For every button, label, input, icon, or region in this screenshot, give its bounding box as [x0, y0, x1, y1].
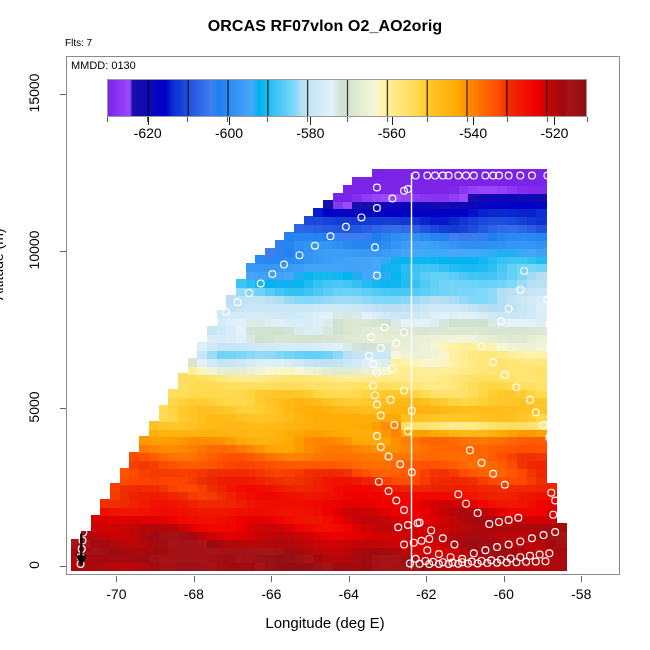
- colorbar-minor-tick: [507, 117, 508, 122]
- colorbar-tick-label: -580: [296, 125, 324, 141]
- colorbar-tick-label: -520: [540, 125, 568, 141]
- colorbar-minor-tick: [467, 117, 468, 122]
- colorbar-minor-tick: [387, 117, 388, 122]
- colorbar-tick-labels: -620-600-580-560-540-520: [67, 125, 620, 143]
- colorbar[interactable]: [107, 79, 587, 117]
- x-axis-tick: [581, 576, 582, 582]
- y-axis-tick-label: 5000: [26, 387, 42, 427]
- x-axis-tick: [504, 576, 505, 582]
- x-axis-tick-label: -62: [416, 586, 436, 602]
- x-axis-tick: [116, 576, 117, 582]
- x-axis-tick: [349, 576, 350, 582]
- x-axis-tick-label: -66: [261, 586, 281, 602]
- colorbar-major-tick: [229, 117, 230, 125]
- flights-count-label: Flts: 7: [65, 38, 92, 49]
- colorbar-tick-label: -600: [215, 125, 243, 141]
- y-axis-tick: [60, 408, 66, 409]
- x-axis-tick: [426, 576, 427, 582]
- colorbar-minor-tick: [227, 117, 228, 122]
- x-axis-tick-label: -58: [571, 586, 591, 602]
- colorbar-minor-tick: [427, 117, 428, 122]
- y-axis-tick-label: 10000: [26, 230, 42, 270]
- colorbar-tick-label: -620: [134, 125, 162, 141]
- x-axis-title: Longitude (deg E): [0, 615, 650, 632]
- y-axis-title: Altitude (m): [0, 228, 6, 300]
- x-axis-tick-label: -60: [494, 586, 514, 602]
- colorbar-minor-tick: [547, 117, 548, 122]
- colorbar-minor-tick: [187, 117, 188, 122]
- y-axis-tick: [60, 94, 66, 95]
- colorbar-major-tick: [392, 117, 393, 125]
- colorbar-major-tick: [473, 117, 474, 125]
- x-axis-tick-label: -68: [184, 586, 204, 602]
- mmdd-label: MMDD: 0130: [71, 60, 136, 72]
- colorbar-minor-tick: [107, 117, 108, 122]
- page-title: ORCAS RF07vlon O2_AO2orig: [0, 18, 650, 36]
- y-axis-tick: [60, 566, 66, 567]
- chart-root: ORCAS RF07vlon O2_AO2orig Flts: 7 MMDD: …: [0, 0, 650, 650]
- x-axis-tick: [194, 576, 195, 582]
- x-axis-tick: [271, 576, 272, 582]
- colorbar-minor-tick: [307, 117, 308, 122]
- colorbar-ticks: [107, 117, 587, 125]
- x-axis-tick-label: -64: [339, 586, 359, 602]
- colorbar-major-tick: [554, 117, 555, 125]
- colorbar-minor-tick: [347, 117, 348, 122]
- colorbar-minor-tick: [267, 117, 268, 122]
- y-axis-tick-label: 0: [26, 545, 42, 585]
- y-axis-tick-label: 15000: [26, 73, 42, 113]
- plot-area[interactable]: MMDD: 0130 -620-600-580-560-540-520: [66, 56, 620, 575]
- colorbar-tick-label: -560: [378, 125, 406, 141]
- colorbar-major-tick: [148, 117, 149, 125]
- colorbar-tick-label: -540: [459, 125, 487, 141]
- x-axis-tick-label: -70: [106, 586, 126, 602]
- colorbar-gradient: [107, 79, 587, 117]
- colorbar-minor-tick: [587, 117, 588, 122]
- colorbar-major-tick: [310, 117, 311, 125]
- y-axis-tick: [60, 251, 66, 252]
